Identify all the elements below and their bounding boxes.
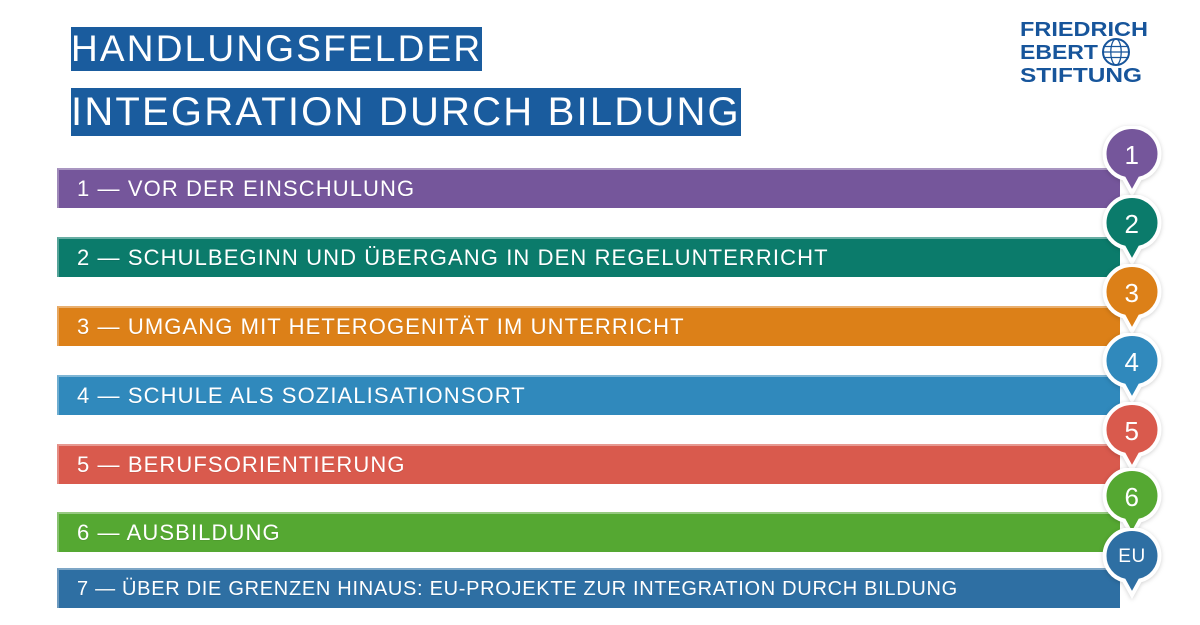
svg-text:STIFTUNG: STIFTUNG: [1020, 65, 1142, 87]
field-bar-2-label: 2 — SCHULBEGINN UND ÜBERGANG IN DEN REGE…: [59, 245, 829, 271]
map-pin-icon: [1102, 264, 1162, 338]
map-pin-icon: [1102, 333, 1162, 407]
svg-text:EBERT: EBERT: [1020, 42, 1098, 64]
field-bar-3[interactable]: 3 — UMGANG MIT HETEROGENITÄT IM UNTERRIC…: [57, 306, 1120, 346]
map-pin-icon: [1102, 528, 1162, 602]
field-bar-4[interactable]: 4 — SCHULE ALS SOZIALISATIONSORT: [57, 375, 1120, 415]
field-bar-4-label: 4 — SCHULE ALS SOZIALISATIONSORT: [59, 383, 526, 409]
globe-icon: [1103, 39, 1129, 65]
page-title-primary-text: HANDLUNGSFELDER: [71, 27, 482, 71]
fes-logo: FRIEDRICH EBERT STIFTUNG: [1020, 18, 1176, 88]
step-badge-3[interactable]: 3: [1102, 264, 1162, 338]
field-bar-5-label: 5 — BERUFSORIENTIERUNG: [59, 452, 406, 478]
step-badge-5[interactable]: 5: [1102, 402, 1162, 476]
field-bar-1-label: 1 — VOR DER EINSCHULUNG: [59, 176, 415, 202]
map-pin-icon: [1102, 126, 1162, 200]
fes-logo-icon: FRIEDRICH EBERT STIFTUNG: [1020, 18, 1176, 88]
step-badge-4[interactable]: 4: [1102, 333, 1162, 407]
field-bar-1[interactable]: 1 — VOR DER EINSCHULUNG: [57, 168, 1120, 208]
step-badge-eu[interactable]: EU: [1102, 528, 1162, 602]
field-bar-5[interactable]: 5 — BERUFSORIENTIERUNG: [57, 444, 1120, 484]
field-bar-6[interactable]: 6 — AUSBILDUNG: [57, 512, 1120, 552]
field-bar-6-label: 6 — AUSBILDUNG: [59, 520, 281, 546]
page-title-secondary-text: INTEGRATION DURCH BILDUNG: [71, 88, 741, 136]
field-bar-2[interactable]: 2 — SCHULBEGINN UND ÜBERGANG IN DEN REGE…: [57, 237, 1120, 277]
step-badge-1[interactable]: 1: [1102, 126, 1162, 200]
slide-canvas: HANDLUNGSFELDER INTEGRATION DURCH BILDUN…: [0, 0, 1200, 625]
map-pin-icon: [1102, 402, 1162, 476]
map-pin-icon: [1102, 195, 1162, 269]
field-bar-3-label: 3 — UMGANG MIT HETEROGENITÄT IM UNTERRIC…: [59, 314, 685, 340]
field-bar-7-label: 7 — ÜBER DIE GRENZEN HINAUS: EU-PROJEKTE…: [59, 578, 958, 601]
page-title-primary: HANDLUNGSFELDER: [57, 25, 496, 75]
svg-text:FRIEDRICH: FRIEDRICH: [1020, 19, 1148, 41]
page-title-secondary: INTEGRATION DURCH BILDUNG: [57, 86, 755, 141]
field-bar-7[interactable]: 7 — ÜBER DIE GRENZEN HINAUS: EU-PROJEKTE…: [57, 568, 1120, 608]
step-badge-2[interactable]: 2: [1102, 195, 1162, 269]
